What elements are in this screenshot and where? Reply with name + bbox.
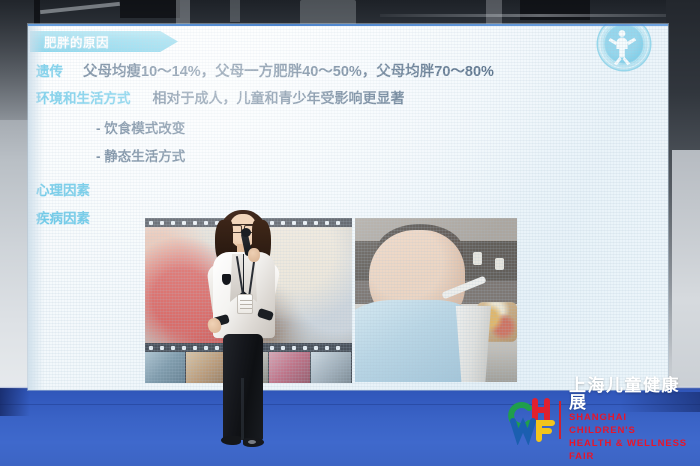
microphone-head [241, 228, 251, 237]
brand-name-chinese: 上海儿童健康展 [569, 377, 695, 413]
slide-line-label: 心理因素 [36, 179, 90, 199]
brand-name-english-line1: SHANGHAI CHILDREN'S [569, 412, 695, 438]
ceiling-dark-panel [520, 0, 590, 20]
slide-image-child-eating [355, 218, 517, 382]
presenter-shoe-highlight [248, 440, 256, 444]
presenter [196, 206, 288, 466]
ceiling-column [230, 0, 240, 22]
seal-child-figure-icon [598, 24, 650, 70]
ceiling-truss [380, 14, 700, 17]
slide-title-text: 肥胖的原因 [30, 32, 109, 51]
brand-divider [559, 401, 561, 439]
slide-line-value: 父母均瘦10～14%，父母一方肥胖40～50%，父母均胖70～80% [83, 60, 494, 81]
presenter-shoe-left [221, 436, 241, 445]
slide-line-genetics: 遗传 父母均瘦10～14%，父母一方肥胖40～50%，父母均胖70～80% [36, 60, 616, 81]
conference-stage-scene: 肥胖的原因 遗传 父母均瘦10～14%，父母一方肥胖40～50%，父母均胖70～… [0, 0, 700, 466]
brand-text-block: 上海儿童健康展 SHANGHAI CHILDREN'S HEALTH & WEL… [569, 377, 695, 464]
slide-bullet-sedentary: - 静态生活方式 [96, 145, 616, 165]
chwf-mark-icon [505, 395, 557, 445]
floor-shadow-left [0, 388, 30, 416]
slide-line-label: 环境和生活方式 [36, 87, 131, 107]
childrens-hospital-seal-icon [598, 24, 650, 70]
slide-line-value: 相对于成人，儿童和青少年受影响更显著 [153, 88, 405, 108]
event-brand-logo: 上海儿童健康展 SHANGHAI CHILDREN'S HEALTH & WEL… [505, 392, 695, 448]
presenter-lapel-pin [222, 274, 231, 285]
photo-ceiling-light [495, 258, 504, 270]
slide-line-label: 疾病因素 [36, 207, 90, 227]
photo-ceiling-light [473, 252, 482, 265]
presenter-leg-separation [241, 378, 244, 440]
ceiling-dark-panel [120, 0, 180, 18]
hall-wall-right-panel [672, 150, 700, 400]
slide-bullet-diet: - 饮食模式改变 [96, 117, 616, 137]
led-top-edge-trim [28, 24, 668, 26]
led-presentation-screen: 肥胖的原因 遗传 父母均瘦10～14%，父母一方肥胖40～50%，父母均胖70～… [28, 24, 668, 390]
collage-thumbnail [311, 352, 351, 383]
slide-body: 遗传 父母均瘦10～14%，父母一方肥胖40～50%，父母均胖70～80% 环境… [36, 60, 616, 227]
slide-title-banner: 肥胖的原因 [30, 31, 178, 52]
slide-line-psychological: 心理因素 [36, 179, 616, 199]
presenter-badge [237, 294, 253, 314]
slide-line-label: 遗传 [36, 60, 63, 80]
brand-name-english-line2: HEALTH & WELLNESS FAIR [569, 438, 695, 464]
presenter-hand-right [248, 248, 260, 262]
slide-line-environment: 环境和生活方式 相对于成人，儿童和青少年受影响更显著 [36, 87, 616, 108]
collage-thumbnail [145, 352, 185, 383]
